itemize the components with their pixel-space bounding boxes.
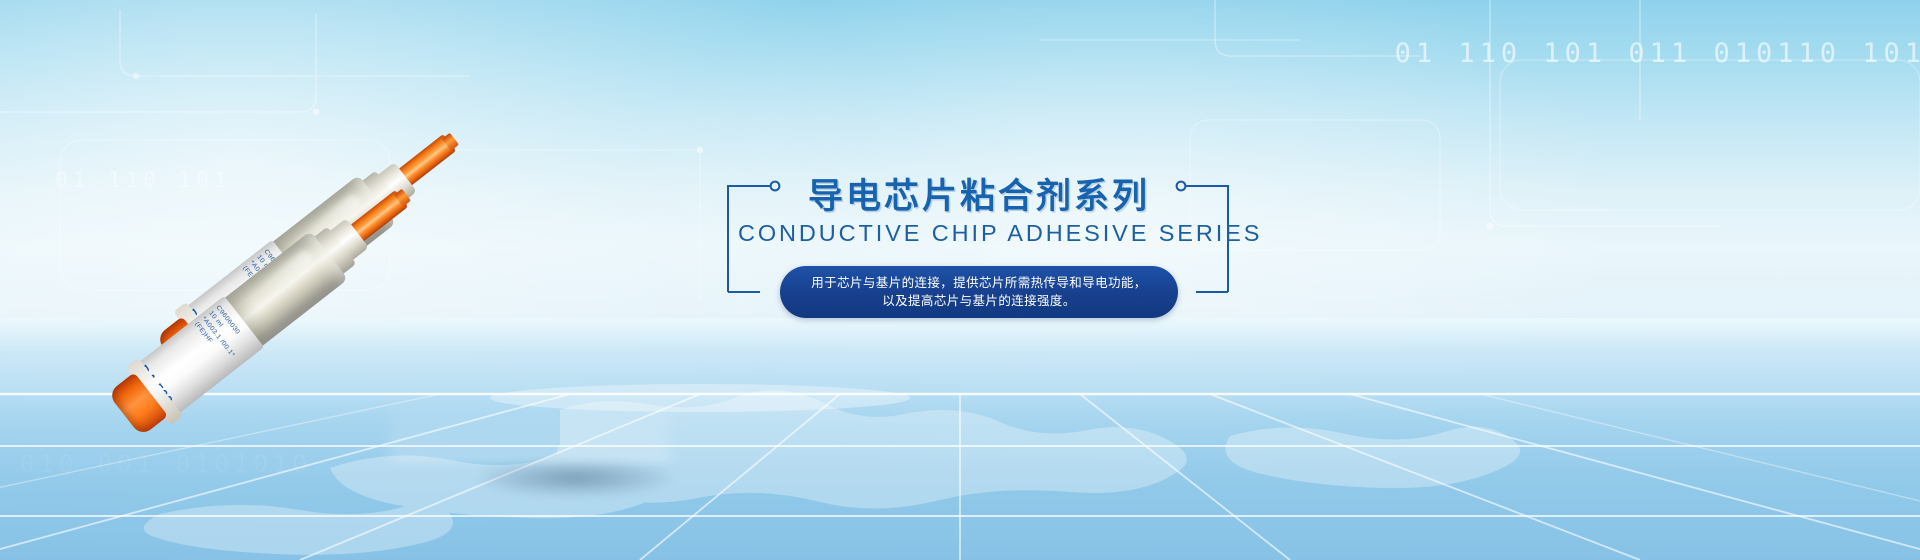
ground-plane <box>0 318 1920 560</box>
product-image: C9606030 10 ml *A003.1 /00.1* (FE)HF DA … <box>330 110 670 410</box>
page-title: 导电芯片粘合剂系列 <box>780 168 1178 219</box>
description-pill: 用于芯片与基片的连接，提供芯片所需热传导和导电功能， 以及提高芯片与基片的连接强… <box>780 266 1178 318</box>
product-banner: 01 110 101 011 010110 101 01 110 101 010… <box>0 0 1920 560</box>
page-subtitle: CONDUCTIVE CHIP ADHESIVE SERIES <box>738 220 1220 247</box>
binary-text-top-right: 01 110 101 011 010110 101 <box>1395 38 1920 69</box>
headline-block: 导电芯片粘合剂系列 CONDUCTIVE CHIP ADHESIVE SERIE… <box>718 160 1238 340</box>
world-map-grid-icon <box>0 318 1920 560</box>
binary-text-mid-left: 01 110 101 <box>55 168 231 192</box>
description-text: 用于芯片与基片的连接，提供芯片所需热传导和导电功能， 以及提高芯片与基片的连接强… <box>797 274 1160 310</box>
